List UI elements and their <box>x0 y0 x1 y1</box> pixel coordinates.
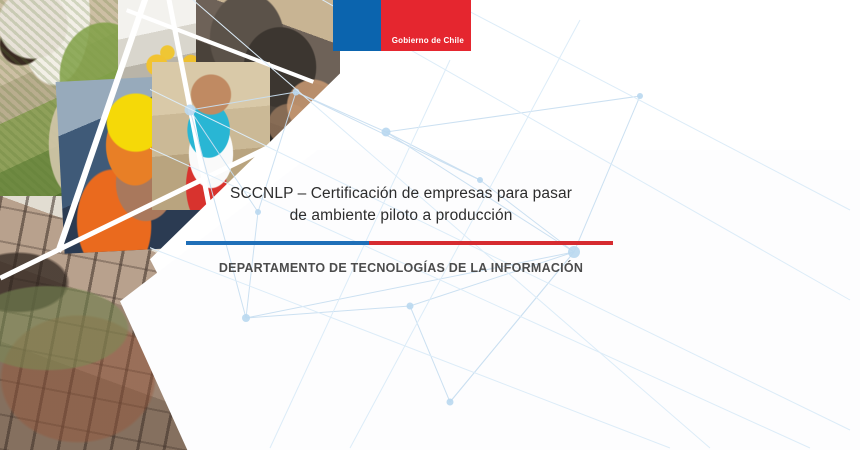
logo-red-block: Gobierno de Chile <box>381 0 471 51</box>
gobierno-de-chile-logo: Gobierno de Chile <box>333 0 471 51</box>
department-label: DEPARTAMENTO DE TECNOLOGÍAS DE LA INFORM… <box>186 245 616 275</box>
page-title-line-2: de ambiente piloto a producción <box>290 207 513 224</box>
title-block: SCCNLP – Certificación de empresas para … <box>186 183 616 275</box>
page-title-line-1: SCCNLP – Certificación de empresas para … <box>230 185 572 202</box>
logo-label: Gobierno de Chile <box>392 36 464 45</box>
page-title: SCCNLP – Certificación de empresas para … <box>186 183 616 228</box>
logo-blue-block <box>333 0 381 51</box>
title-divider-rule <box>186 241 613 245</box>
divider-red-segment <box>369 241 613 245</box>
document-cover-page: Gobierno de Chile SCCNLP – Certificación… <box>0 0 860 450</box>
divider-blue-segment <box>186 241 369 245</box>
